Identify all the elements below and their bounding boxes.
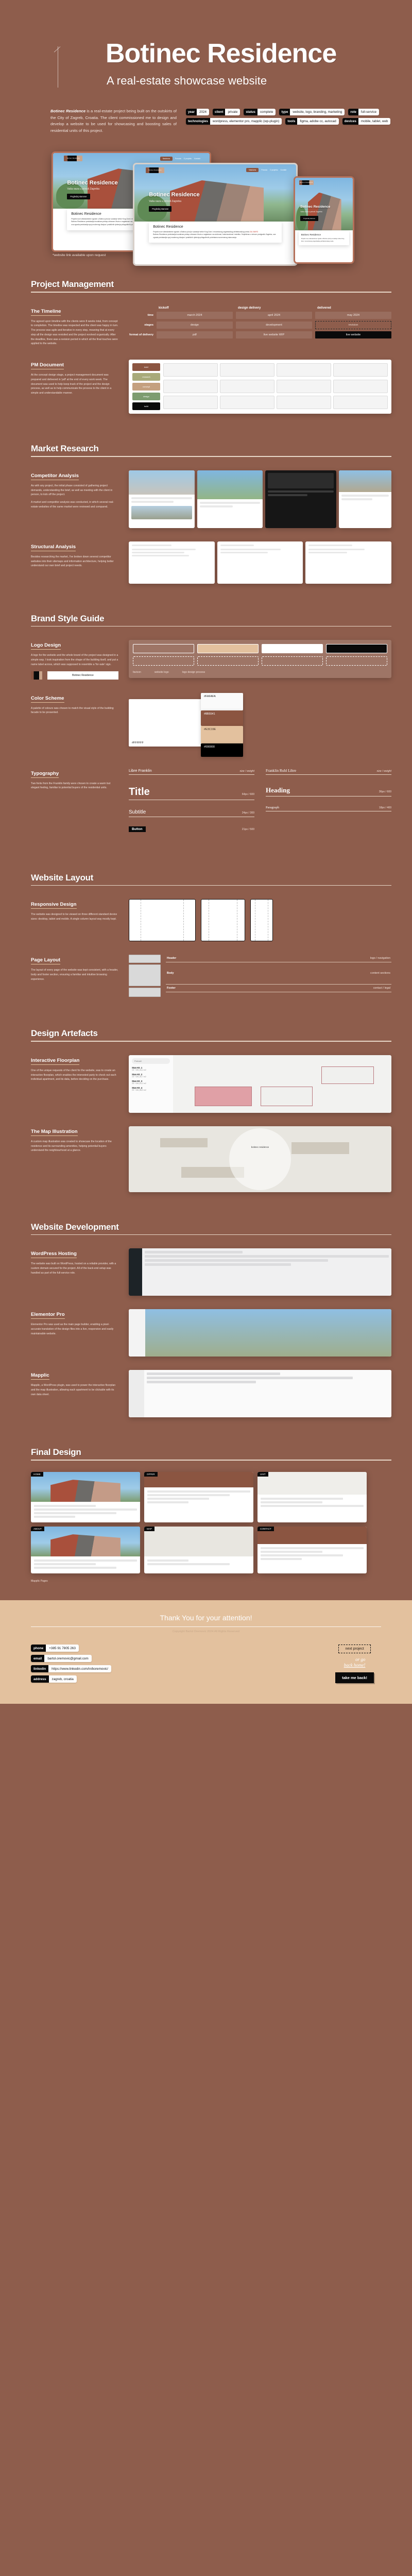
competitor-body-1: As with any project, the initial phase c… xyxy=(31,484,118,497)
badge-value: private xyxy=(225,109,240,115)
device-mobile xyxy=(250,899,273,941)
font-family-franklin-ruhl-libre: Franklin Ruhl Libre size / weight Headin… xyxy=(266,768,391,843)
sub-head-page-layout: Page Layout xyxy=(31,957,60,964)
typography-specimens: Libre Franklin size / weight Title 64px … xyxy=(129,768,391,843)
page-layout-diagram: Header logo / navigation Body content se… xyxy=(129,955,391,998)
contact-key: phone xyxy=(31,1645,46,1652)
site-subheadline: Vaša oaza u prirodi Zagreba xyxy=(149,200,181,203)
font-family-libre-franklin: Libre Franklin size / weight Title 64px … xyxy=(129,768,254,843)
placeholder-line xyxy=(147,1494,230,1496)
placeholder-line xyxy=(147,1501,188,1503)
placeholder-line xyxy=(261,1554,343,1556)
type-spec: 21px / 500 xyxy=(242,828,254,831)
sub-head-pm-document: PM Document xyxy=(31,362,64,369)
page-subtitle: A real-estate showcase website xyxy=(107,74,412,88)
section-website-layout: Website Layout Responsive Design The web… xyxy=(0,873,412,999)
nav-item-naslovna[interactable]: Naslovna xyxy=(160,157,173,161)
placeholder-line xyxy=(147,1372,280,1375)
hero-mockups: Botinec Residence Naslovna Ponuda O proj… xyxy=(0,145,412,264)
grid-guide xyxy=(141,900,141,941)
badge-key: devices xyxy=(342,118,358,125)
section-brand-style-guide: Brand Style Guide Logo Design A logo for… xyxy=(0,614,412,843)
contact-value: https://www.linkedin.com/in/boremovic/ xyxy=(48,1665,111,1672)
pm-stage: build xyxy=(132,402,160,410)
screen-hero xyxy=(31,1527,140,1556)
site-hero-photo xyxy=(197,470,263,499)
block-logo-design: Logo Design A logo for the website and t… xyxy=(31,640,391,679)
page-title: Botinec Residence xyxy=(106,40,412,67)
contact-email[interactable]: email bartol.oremovic@gmail.com xyxy=(31,1655,92,1662)
pm-page-thumb xyxy=(277,380,331,393)
colors-body: A palette of colours was chosen to match… xyxy=(31,706,118,716)
type-sample-paragraph: Paragraph xyxy=(266,806,279,809)
placeholder-line xyxy=(261,1551,322,1553)
list-item[interactable]: Stan K0_32S + DB | 61,2 m2 xyxy=(132,1080,170,1084)
badge-key: year xyxy=(186,109,197,115)
type-sample-subtitle: Subtitle xyxy=(129,809,146,815)
logo-step xyxy=(262,656,323,666)
site-nav: Naslovna Ponuda O projektu Kontakt xyxy=(246,168,286,172)
section-title: Design Artefacts xyxy=(31,1028,391,1039)
sub-head-map-illustration: The Map Illustration xyxy=(31,1129,78,1136)
nav-item-ponuda[interactable]: Ponuda xyxy=(175,158,181,160)
sitemap-3 xyxy=(305,541,391,584)
swatch-8b5541: #8B5541 xyxy=(201,710,243,726)
map-body: A custom map illustration was created to… xyxy=(31,1140,118,1153)
page-layout-body: The layout of every page of the website … xyxy=(31,968,118,981)
placeholder-line xyxy=(261,1505,364,1507)
table-cell: pdf xyxy=(157,331,233,338)
section-title: Website Layout xyxy=(31,873,391,883)
section-title: Project Management xyxy=(31,279,391,290)
screen-tag: CONTACT xyxy=(257,1527,274,1531)
placeholder-image xyxy=(268,473,334,488)
section-market-research: Market Research Competitor Analysis As w… xyxy=(0,444,412,584)
contact-key: email xyxy=(31,1655,44,1662)
competitor-screenshots xyxy=(129,470,391,528)
swatch-label: #000000 xyxy=(204,745,215,749)
badge-key: type xyxy=(279,109,290,115)
hero-section: Botinec Residence A real-estate showcase… xyxy=(0,0,412,264)
site-logo: Botinec Residence xyxy=(299,180,314,185)
contact-value: +385 91 7805 263 xyxy=(46,1645,79,1652)
type-sample-heading: Heading xyxy=(266,786,290,794)
elementor-body: Elementor Pro was used as the main page … xyxy=(31,1323,118,1336)
badge-value: figma, adobe cc, autocad xyxy=(297,118,338,125)
meta-badge-list: year 2024 client private status complete… xyxy=(186,108,391,134)
sitemap-1 xyxy=(129,541,215,584)
placeholder-line xyxy=(261,1547,364,1549)
block-color-scheme: Color Scheme A palette of colours was ch… xyxy=(31,693,391,755)
building-shape xyxy=(170,180,264,222)
segment-header xyxy=(129,955,161,963)
competitor-site-4 xyxy=(339,470,391,528)
map-focus-circle xyxy=(229,1128,291,1190)
section-design-artefacts: Design Artefacts Interactive Floorplan O… xyxy=(0,1028,412,1192)
competitor-site-3 xyxy=(265,470,336,528)
placeholder-line xyxy=(34,1567,116,1569)
placeholder-line xyxy=(132,552,184,553)
layout-row-value: logo / navigation xyxy=(370,957,390,960)
type-spec: 24px / 300 xyxy=(242,811,254,815)
contact-address[interactable]: address zagreb, croatia xyxy=(31,1675,77,1683)
pm-document-body: At the concept design stage, a project m… xyxy=(31,373,118,396)
section-title: Market Research xyxy=(31,444,391,454)
badge-technologies: technologies wordpress, elementor pro, m… xyxy=(186,118,282,125)
mockup-note: *website link available upon request xyxy=(53,253,106,257)
block-page-layout: Page Layout The layout of every page of … xyxy=(31,955,391,998)
placeholder-line xyxy=(145,1263,291,1266)
admin-sidebar xyxy=(129,1248,142,1296)
site-logo: Botinec Residence xyxy=(64,156,82,161)
footer-actions: next project or go back home! take me ba… xyxy=(335,1645,381,1683)
editor-panel xyxy=(129,1309,145,1357)
logo-step xyxy=(326,644,387,653)
nav-item-kontakt[interactable]: Kontakt xyxy=(194,158,200,160)
badge-value: mobile, tablet, web xyxy=(358,118,391,125)
contact-value: bartol.oremovic@gmail.com xyxy=(44,1655,91,1662)
section-title: Brand Style Guide xyxy=(31,614,391,624)
thanks-message: Thank You for your attention! xyxy=(31,1614,381,1622)
table-cell: development xyxy=(236,321,312,329)
placeholder-line xyxy=(132,549,196,550)
grid-guide xyxy=(209,900,209,941)
badge-client: client private xyxy=(213,109,240,115)
logo-step xyxy=(197,644,259,653)
contact-linkedin[interactable]: linkedin https://www.linkedin.com/in/bor… xyxy=(31,1665,111,1672)
page-structure-preview xyxy=(129,955,161,998)
section-project-management: Project Management The Timeline The agre… xyxy=(0,279,412,414)
placeholder-line xyxy=(308,545,352,546)
block-interactive-floorplan: Interactive Floorplan One of the unique … xyxy=(31,1055,391,1113)
block-mapplic: Mapplic Mapplic, a WordPress plugin, was… xyxy=(31,1370,391,1417)
placeholder-line xyxy=(34,1505,96,1507)
type-spec: 64px / 600 xyxy=(242,793,254,796)
layout-row: Footer contact / legal xyxy=(166,985,391,992)
placeholder-line xyxy=(34,1560,137,1562)
hero-photo: Botinec Residence Botinec Residence Vaša… xyxy=(295,178,353,230)
final-design-gallery: HOME OFFER UNIT ABOUT MAP CONTACT xyxy=(0,1472,412,1583)
block-structural-analysis: Structural Analysis Besides researching … xyxy=(31,541,391,584)
site-logo: Botinec Residence xyxy=(146,167,164,173)
admin-body xyxy=(142,1248,391,1296)
placeholder-image xyxy=(131,506,192,519)
sitemap-2 xyxy=(217,541,303,584)
layout-row-key: Footer xyxy=(167,987,176,990)
section-final-design: Final Design xyxy=(0,1447,412,1461)
site-cta-button[interactable]: Pogledaj stanove xyxy=(149,206,171,212)
mapplic-screenshot xyxy=(129,1370,391,1417)
sitemap-diagrams xyxy=(129,541,391,584)
placeholder-line xyxy=(220,545,254,546)
take-me-back-button[interactable]: take me back! xyxy=(335,1672,374,1683)
font-name: Franklin Ruhl Libre xyxy=(266,768,296,773)
mapplic-body: Mapplic, a WordPress plugin, was used to… xyxy=(31,1383,118,1397)
section-divider xyxy=(31,626,391,627)
wordpress-admin-screenshot xyxy=(129,1248,391,1296)
contact-key: address xyxy=(31,1675,49,1683)
pm-stage: research xyxy=(132,373,160,381)
badge-value: wordpress, elementor pro, mapplic (wp-pl… xyxy=(210,118,282,125)
sub-head-wordpress-hosting: WordPress Hosting xyxy=(31,1251,77,1258)
badge-role: role full-service xyxy=(348,109,379,115)
final-screen-card: HOME xyxy=(31,1472,140,1522)
contact-list: phone +385 91 7805 263 email bartol.orem… xyxy=(31,1645,111,1683)
logo-samples: Botinec Residence xyxy=(31,671,118,680)
floorplan-unit-list: Pretraži Stan K0_11S + DB | 44,4 m2 Stan… xyxy=(129,1055,173,1113)
footer: Thank You for your attention! Copyright … xyxy=(0,1600,412,1704)
page-layout-legend: Header logo / navigation Body content se… xyxy=(166,955,391,998)
nav-item-ponuda[interactable]: Ponuda xyxy=(261,169,267,171)
layout-row: Body content sections xyxy=(166,962,391,985)
badge-key: client xyxy=(213,109,225,115)
logo-process-grid xyxy=(133,644,387,666)
block-responsive-design: Responsive Design The website was design… xyxy=(31,899,391,941)
screen-hero xyxy=(144,1527,253,1556)
placeholder-line xyxy=(34,1516,75,1518)
placeholder-line xyxy=(34,1512,116,1514)
nav-item-kontakt[interactable]: Kontakt xyxy=(281,169,287,171)
badge-year: year 2024 xyxy=(186,109,209,115)
segment-footer xyxy=(129,988,161,997)
section-divider xyxy=(31,1460,391,1461)
pm-page-thumb xyxy=(220,380,274,393)
layout-row-value: contact / legal xyxy=(373,987,390,990)
final-screen-card: CONTACT xyxy=(257,1527,367,1573)
site-hero-photo xyxy=(339,470,391,493)
next-project-button[interactable]: next project xyxy=(338,1645,370,1653)
placeholder-line xyxy=(200,505,233,507)
elementor-screenshot xyxy=(129,1309,391,1357)
list-item[interactable]: Stan K0_21S + DB | 40,7 m2 xyxy=(132,1073,170,1078)
screen-hero xyxy=(31,1472,140,1502)
placeholder-line xyxy=(145,1251,243,1253)
pm-page-thumb xyxy=(163,380,218,393)
swatch-000000: #000000 xyxy=(201,743,243,757)
timeline-row-label-stages: stages xyxy=(129,324,153,327)
placeholder-line xyxy=(132,545,171,546)
floorplan-unit[interactable] xyxy=(195,1087,251,1106)
pm-page-thumb xyxy=(163,396,218,409)
screen-hero xyxy=(257,1472,367,1495)
pm-stage: concept xyxy=(132,383,160,391)
sub-head-structural-analysis: Structural Analysis xyxy=(31,544,76,551)
sub-head-timeline: The Timeline xyxy=(31,309,61,316)
pm-document-preview: brief research concept design build xyxy=(129,360,391,414)
spec-header: size / weight xyxy=(376,770,391,773)
nav-item-o-projektu[interactable]: O projektu xyxy=(184,158,192,160)
grid-guide xyxy=(183,900,184,941)
logo-step xyxy=(197,656,259,666)
swatch-label: #8B5541 xyxy=(204,713,215,716)
placeholder-line xyxy=(341,498,372,500)
card-title: Botinec Residence xyxy=(301,233,347,236)
placeholder-line xyxy=(145,1259,328,1262)
device-frames xyxy=(129,899,391,941)
site-hero-photo xyxy=(129,470,195,495)
table-cell: march 2024 xyxy=(157,312,233,319)
contact-phone[interactable]: phone +385 91 7805 263 xyxy=(31,1645,79,1652)
placeholder-line xyxy=(147,1381,256,1383)
sub-head-mapplic: Mapplic xyxy=(31,1372,49,1380)
pm-page-grid xyxy=(163,363,388,410)
section-divider xyxy=(31,292,391,293)
final-screen-card: UNIT xyxy=(257,1472,367,1522)
floorplan-canvas[interactable] xyxy=(173,1055,391,1113)
pm-page-thumb xyxy=(333,380,388,393)
pm-page-thumb xyxy=(277,363,331,377)
placeholder-line xyxy=(147,1563,230,1565)
floorplan-unit[interactable] xyxy=(321,1066,374,1084)
placeholder-line xyxy=(268,490,334,493)
placeholder-line xyxy=(220,552,268,553)
badge-key: status xyxy=(244,109,257,115)
section-divider xyxy=(31,1234,391,1235)
list-item[interactable]: Stan K0_11S + DB | 44,4 m2 xyxy=(132,1066,170,1071)
plugin-panel xyxy=(129,1370,144,1417)
sub-head-logo-design: Logo Design xyxy=(31,642,61,650)
map-block xyxy=(160,1138,208,1147)
block-pm-document: PM Document At the concept design stage,… xyxy=(31,360,391,414)
pm-page-thumb xyxy=(333,396,388,409)
badge-key: tools xyxy=(285,118,297,125)
or-go-line1: or go xyxy=(355,1657,365,1662)
swatch-e3c19e: #E3C19E xyxy=(201,726,243,743)
editor-canvas xyxy=(145,1309,391,1357)
pm-page-thumb xyxy=(163,363,218,377)
placeholder-line xyxy=(341,495,389,497)
site-intro-card: Botinec Residence Projekt nove višestamb… xyxy=(299,231,350,245)
unit-meta: 2S + DB | 58,9 m2 xyxy=(132,1089,170,1091)
plugin-body xyxy=(144,1370,391,1417)
placeholder-line xyxy=(261,1501,322,1503)
floorplan-mockup: Pretraži Stan K0_11S + DB | 44,4 m2 Stan… xyxy=(129,1055,391,1113)
sub-head-responsive-design: Responsive Design xyxy=(31,902,77,909)
table-cell: revision xyxy=(315,321,391,329)
final-design-note: Mapplic Pages xyxy=(31,1580,391,1583)
block-typography: Typography Two fonts from the Franklin f… xyxy=(31,768,391,843)
layout-row-value: content sections xyxy=(370,972,390,975)
badge-key: role xyxy=(348,109,358,115)
badge-value: website, logo, branding, marketing xyxy=(290,109,345,115)
block-map-illustration: The Map Illustration A custom map illust… xyxy=(31,1126,391,1192)
timeline-col-delivered: delivered xyxy=(315,306,391,310)
site-headline: Botinec Residence xyxy=(300,205,330,209)
floorplan-unit[interactable] xyxy=(261,1087,313,1106)
block-wordpress-hosting: WordPress Hosting The website was built … xyxy=(31,1248,391,1296)
hosting-body: The website was built on WordPress, host… xyxy=(31,1262,118,1275)
unit-meta: 1S + DB | 40,7 m2 xyxy=(132,1076,170,1078)
section-title: Final Design xyxy=(31,1447,391,1458)
list-item[interactable]: Stan K0_42S + DB | 58,9 m2 xyxy=(132,1087,170,1091)
placeholder-line xyxy=(131,497,192,499)
table-cell: april 2024 xyxy=(236,312,312,319)
screen-tag: OFFER xyxy=(144,1472,158,1477)
sub-head-color-scheme: Color Scheme xyxy=(31,696,64,703)
logo-step xyxy=(326,656,387,666)
intro-lead: Botinec Residence xyxy=(50,109,85,113)
pm-stage: design xyxy=(132,393,160,400)
section-divider xyxy=(31,456,391,457)
site-headline: Botinec Residence xyxy=(149,192,199,198)
nav-item-o-projektu[interactable]: O projektu xyxy=(270,169,278,171)
screen-tag: HOME xyxy=(31,1472,43,1477)
badge-type: type website, logo, branding, marketing xyxy=(279,109,345,115)
placeholder-line xyxy=(145,1255,389,1258)
responsive-body: The website was designed to be viewed on… xyxy=(31,912,118,922)
font-name: Libre Franklin xyxy=(129,768,152,773)
search-input[interactable]: Pretraži xyxy=(132,1058,170,1064)
placeholder-line xyxy=(147,1498,209,1500)
logo-step xyxy=(133,644,194,653)
map-illustration[interactable]: botinec residence xyxy=(129,1126,391,1192)
grid-guide xyxy=(255,900,255,941)
site-cta-button[interactable]: Pogledaj stanove xyxy=(67,194,90,199)
pm-page-thumb xyxy=(220,396,274,409)
table-cell: may 2024 xyxy=(315,312,391,319)
card-link[interactable]: 2A1 BURO xyxy=(250,231,258,233)
final-screen-card: MAP xyxy=(144,1527,253,1573)
swatch-label: #E3C19E xyxy=(204,728,216,731)
timeline-col-design-delivery: design delivery xyxy=(236,306,312,310)
placeholder-line xyxy=(220,549,281,550)
placeholder-line xyxy=(308,549,364,550)
timeline-col-kickoff: kickoff xyxy=(157,306,233,310)
card-title: Botinec Residence xyxy=(153,225,277,229)
site-cta-button[interactable]: Pogledaj stanove xyxy=(300,216,318,221)
card-paragraph-2: Botinec Residence predstavlja inovativan… xyxy=(153,233,277,239)
caption-favicon: favicon xyxy=(133,671,141,674)
placeholder-line xyxy=(34,1563,96,1565)
type-spec: 18px / 400 xyxy=(379,806,391,809)
swatch-label: #FFFFFF xyxy=(132,741,144,744)
contact-key: linkedin xyxy=(31,1665,48,1672)
timeline-row-label-time: time xyxy=(129,314,153,317)
screen-tag: UNIT xyxy=(257,1472,268,1477)
spec-header: size / weight xyxy=(239,770,254,773)
competitor-site-1 xyxy=(129,470,195,528)
footer-divider xyxy=(31,1626,381,1627)
screen-hero xyxy=(144,1472,253,1487)
final-screen-card: ABOUT xyxy=(31,1527,140,1573)
sub-head-elementor-pro: Elementor Pro xyxy=(31,1312,65,1319)
badge-key: technologies xyxy=(186,118,210,125)
timeline-table: kickoff design delivery delivered time m… xyxy=(129,306,391,338)
pm-page-thumb xyxy=(277,396,331,409)
typography-body: Two fonts from the Franklin family were … xyxy=(31,782,118,791)
logo-process-board: favicon website logo logo design process xyxy=(129,640,391,678)
placeholder-line xyxy=(308,552,347,553)
site-headline: Botinec Residence xyxy=(67,180,117,186)
grid-guide xyxy=(268,900,268,941)
placeholder-line xyxy=(261,1558,302,1560)
block-timeline: The Timeline The agreed upon timeline wi… xyxy=(31,306,391,347)
building-shape xyxy=(50,1480,121,1502)
nav-item-naslovna[interactable]: Naslovna xyxy=(246,168,259,172)
badge-value: 2024 xyxy=(197,109,209,115)
type-sample-title: Title xyxy=(129,786,150,798)
badge-value: complete xyxy=(257,109,276,115)
site-subheadline: Vaša oaza u prirodi Zagreba xyxy=(67,188,99,191)
site-nav: Naslovna Ponuda O projektu Kontakt xyxy=(160,157,200,161)
type-sample-button: Button xyxy=(129,826,146,832)
table-cell: live website WIP xyxy=(236,331,312,338)
placeholder-line xyxy=(261,1498,343,1500)
section-number-1 xyxy=(58,46,58,88)
floorplan-body: One of the unique requests of the client… xyxy=(31,1069,118,1082)
card-p1-text: Projekt nove višestambene zgrade u Botin… xyxy=(153,231,249,233)
badge-devices: devices mobile, tablet, web xyxy=(342,118,391,125)
